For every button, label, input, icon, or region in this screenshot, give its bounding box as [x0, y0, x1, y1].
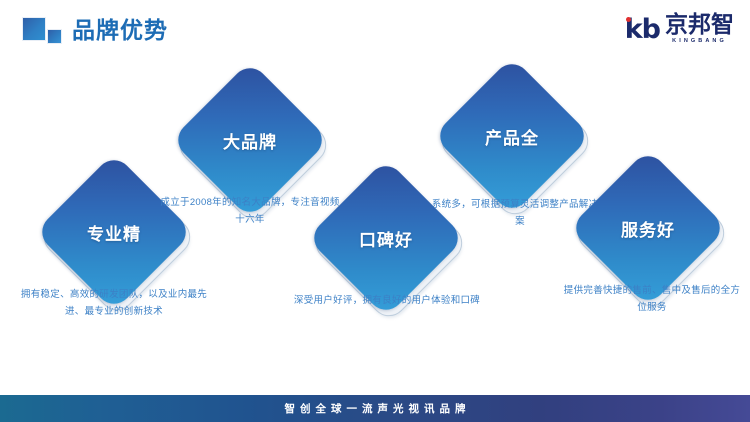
slide-footer: 智创全球一流声光视讯品牌 [0, 395, 750, 422]
advantage-description: 深受用户好评，拥有良好的用户体验和口碑 [292, 292, 482, 309]
diamond-shape: 口碑好 [330, 182, 442, 294]
logo-english-name: KINGBANG [665, 37, 734, 45]
advantage-description: 提供完善快捷的售前、售中及售后的全方位服务 [562, 282, 742, 316]
diamond-shape: 产品全 [456, 80, 568, 192]
footer-slogan: 智创全球一流声光视讯品牌 [280, 401, 471, 416]
diamond-label: 服务好 [592, 172, 704, 284]
diamond-shape: 服务好 [592, 172, 704, 284]
title-decor-square-large [22, 17, 46, 41]
page-title: 品牌优势 [72, 14, 168, 46]
title-decor-square-small [47, 29, 62, 44]
diamond-label: 大品牌 [194, 84, 306, 196]
advantage-description: 成立于2008年的知名大品牌，专注音视频十六年 [160, 194, 340, 228]
advantage-description: 拥有稳定、高效的研发团队，以及业内最先进、最专业的创新技术 [14, 286, 214, 320]
diamond-label: 口碑好 [330, 182, 442, 294]
logo-text-block: 京邦智 KINGBANG [665, 13, 734, 45]
logo-red-dot-icon [626, 17, 631, 22]
diamond-shape: 大品牌 [194, 84, 306, 196]
diamond-label: 专业精 [58, 176, 170, 288]
diamond-label: 产品全 [456, 80, 568, 192]
brand-logo: kb 京邦智 KINGBANG [625, 12, 734, 46]
diamond-shape: 专业精 [58, 176, 170, 288]
logo-mark-kb: kb [625, 16, 660, 43]
logo-chinese-name: 京邦智 [665, 13, 734, 36]
slide-header: 品牌优势 kb 京邦智 KINGBANG [0, 0, 750, 60]
